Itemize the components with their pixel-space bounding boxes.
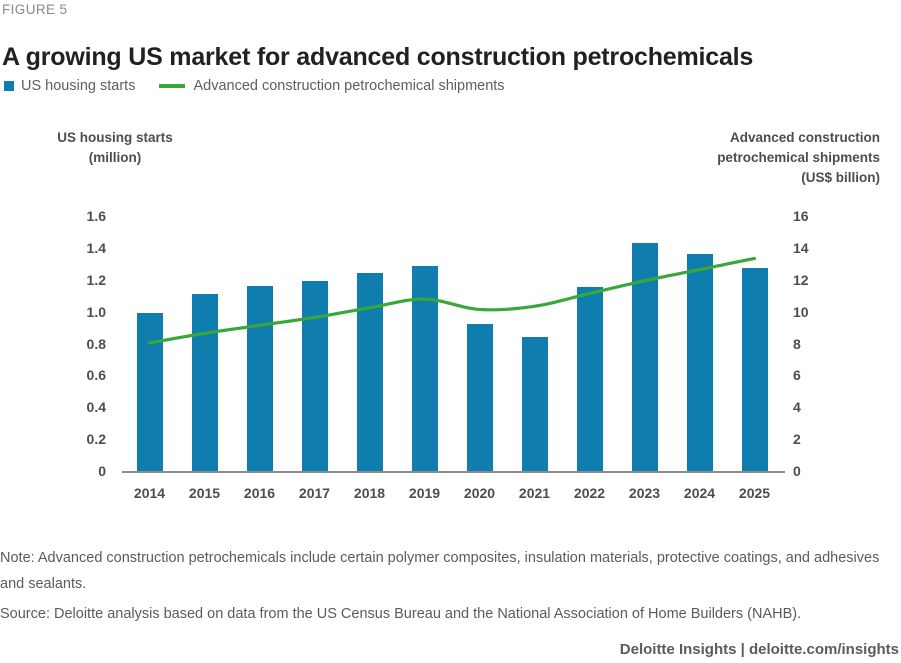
x-axis-tick-2017: 2017 <box>285 485 345 501</box>
footer-note: Note: Advanced construction petrochemica… <box>0 545 901 597</box>
left-axis-tick: 0.2 <box>66 431 106 447</box>
left-axis-tick: 1.2 <box>66 272 106 288</box>
x-axis-tick-2014: 2014 <box>120 485 180 501</box>
plot-line-series <box>122 217 782 472</box>
left-axis-tick: 0.4 <box>66 399 106 415</box>
x-axis-baseline <box>122 471 785 473</box>
right-axis-tick: 0 <box>793 463 833 479</box>
right-axis-tick: 2 <box>793 431 833 447</box>
right-axis-tick: 4 <box>793 399 833 415</box>
left-axis-tick: 0.8 <box>66 336 106 352</box>
left-axis-tick: 1.6 <box>66 208 106 224</box>
x-axis-labels: 2014201520162017201820192020202120222023… <box>122 485 782 509</box>
right-axis-tick: 12 <box>793 272 833 288</box>
right-axis-tick: 6 <box>793 367 833 383</box>
right-axis-tick: 8 <box>793 336 833 352</box>
x-axis-tick-2015: 2015 <box>175 485 235 501</box>
chart-footer: Note: Advanced construction petrochemica… <box>0 545 901 663</box>
x-axis-tick-2025: 2025 <box>725 485 785 501</box>
left-axis-tick: 1.4 <box>66 240 106 256</box>
right-axis-tick: 16 <box>793 208 833 224</box>
right-axis-tick: 14 <box>793 240 833 256</box>
x-axis-tick-2020: 2020 <box>450 485 510 501</box>
x-axis-tick-2024: 2024 <box>670 485 730 501</box>
left-axis-tick: 1.0 <box>66 304 106 320</box>
chart-area: 00.20.40.60.81.01.21.41.6 0246810121416 … <box>0 0 901 530</box>
left-axis-tick: 0.6 <box>66 367 106 383</box>
x-axis-tick-2022: 2022 <box>560 485 620 501</box>
right-axis-tick: 10 <box>793 304 833 320</box>
x-axis-tick-2019: 2019 <box>395 485 455 501</box>
left-y-axis: 00.20.40.60.81.01.21.41.6 <box>66 217 106 472</box>
footer-source: Source: Deloitte analysis based on data … <box>0 601 901 627</box>
x-axis-tick-2021: 2021 <box>505 485 565 501</box>
left-axis-tick: 0 <box>66 463 106 479</box>
x-axis-tick-2018: 2018 <box>340 485 400 501</box>
right-y-axis: 0246810121416 <box>793 217 833 472</box>
x-axis-tick-2023: 2023 <box>615 485 675 501</box>
x-axis-tick-2016: 2016 <box>230 485 290 501</box>
footer-brand: Deloitte Insights | deloitte.com/insight… <box>0 637 901 663</box>
